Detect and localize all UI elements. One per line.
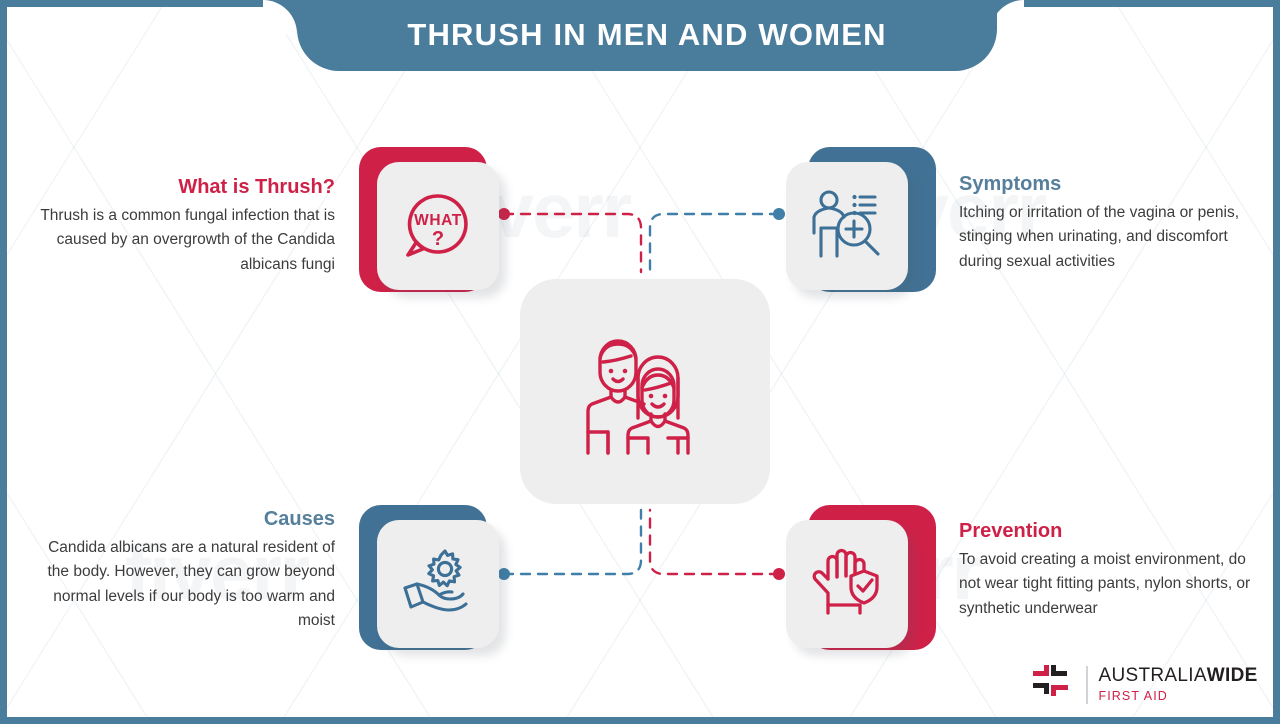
australia-wide-pinwheel-cross-logo xyxy=(1031,663,1075,707)
speech-bubble-what-question-icon: WHAT ? xyxy=(399,187,477,265)
connector-dot-symptoms xyxy=(773,208,785,220)
section-heading: What is Thrush? xyxy=(35,175,335,200)
hand-shield-check-icon xyxy=(808,545,886,623)
section-body: To avoid creating a moist environment, d… xyxy=(959,548,1259,621)
logo-divider xyxy=(1086,666,1088,704)
section-heading: Symptoms xyxy=(959,172,1259,197)
section-heading: Prevention xyxy=(959,519,1259,544)
tile-face xyxy=(786,520,908,648)
section-text-what-is-thrush: What is Thrush? Thrush is a common funga… xyxy=(35,175,335,277)
icon-tile-prevention[interactable] xyxy=(786,505,934,653)
logo-wordmark: AUSTRALIAWIDE FIRST AID xyxy=(1099,666,1258,705)
hand-holding-germ-cell-icon xyxy=(397,547,479,621)
tile-icon-text-what: WHAT xyxy=(414,212,462,229)
connector-causes-to-center xyxy=(504,510,641,574)
center-card xyxy=(520,279,770,504)
connector-what-to-center xyxy=(504,214,641,272)
connector-dot-prevention xyxy=(773,568,785,580)
icon-tile-causes[interactable] xyxy=(359,505,507,653)
infographic-root: fiverr fiverr fiverr fiverr xyxy=(0,0,1280,724)
connector-prevention-to-center xyxy=(650,510,779,574)
section-body: Candida albicans are a natural resident … xyxy=(35,536,335,634)
logo-line1-a: AUSTRALIA xyxy=(1099,665,1207,686)
section-text-causes: Causes Candida albicans are a natural re… xyxy=(35,507,335,634)
section-body: Itching or irritation of the vagina or p… xyxy=(959,201,1259,274)
section-text-symptoms: Symptoms Itching or irritation of the va… xyxy=(959,172,1259,274)
banner-corner-fillet-left xyxy=(263,0,297,34)
section-text-prevention: Prevention To avoid creating a moist env… xyxy=(959,519,1259,621)
page-canvas: fiverr fiverr fiverr fiverr xyxy=(7,7,1273,717)
section-body: Thrush is a common fungal infection that… xyxy=(35,204,335,277)
connector-symptoms-to-center xyxy=(650,214,779,272)
section-heading: Causes xyxy=(35,507,335,532)
icon-tile-symptoms[interactable] xyxy=(786,147,934,295)
tile-face xyxy=(377,520,499,648)
logo-line1-b: WIDE xyxy=(1207,665,1258,686)
couple-man-woman-icon xyxy=(570,322,720,462)
tile-face xyxy=(786,162,908,290)
brand-logo[interactable]: AUSTRALIAWIDE FIRST AID xyxy=(1031,663,1258,707)
tile-icon-text-question: ? xyxy=(432,228,444,250)
page-title: THRUSH IN MEN AND WOMEN xyxy=(407,11,886,53)
page-title-banner: THRUSH IN MEN AND WOMEN xyxy=(297,0,997,71)
logo-line2: FIRST AID xyxy=(1099,690,1258,703)
person-magnifier-medical-cross-icon xyxy=(807,188,887,264)
tile-face: WHAT ? xyxy=(377,162,499,290)
icon-tile-what-is-thrush[interactable]: WHAT ? xyxy=(359,147,507,295)
